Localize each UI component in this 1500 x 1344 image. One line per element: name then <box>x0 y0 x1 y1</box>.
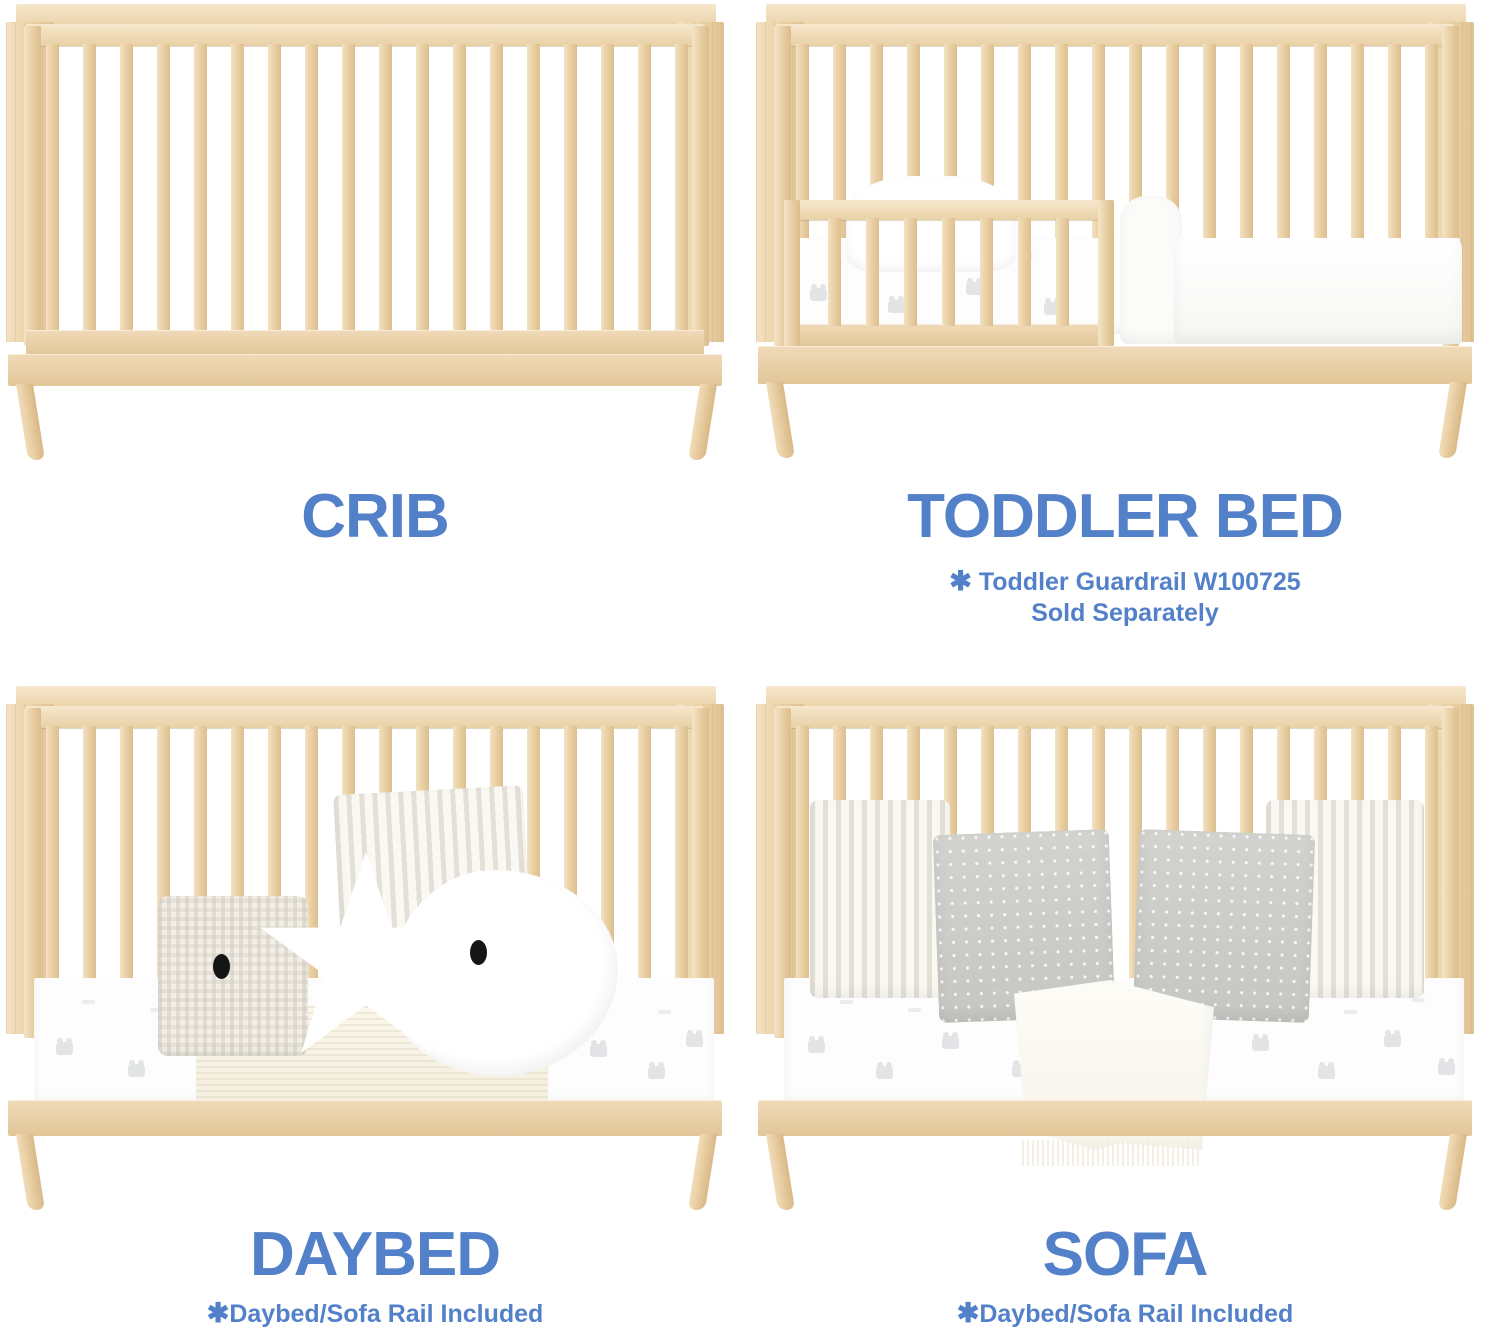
toddler-back-top-rail <box>776 24 1454 46</box>
daybed-leg-right <box>688 1134 717 1210</box>
conversion-stages-grid: CRIB <box>0 0 1500 1344</box>
caption-crib: CRIB <box>0 484 750 550</box>
sofa-back-top-rail <box>776 706 1454 728</box>
panel-title: DAYBED <box>0 1222 750 1288</box>
toddler-base-rail <box>758 346 1472 384</box>
crib-slat-group <box>46 44 694 332</box>
panel-toddler-bed: TODDLER BED ✱ Toddler Guardrail W100725 … <box>750 0 1500 672</box>
caption-daybed: DAYBED ✱Daybed/Sofa Rail Included <box>0 1222 750 1330</box>
crib-post-right <box>692 26 709 346</box>
crib-leg-left <box>16 384 45 460</box>
toddler-leg-right <box>1438 382 1467 458</box>
crib-base-rail <box>8 354 722 386</box>
sofa-leg-right <box>1438 1134 1467 1210</box>
daybed-animal-eye-left <box>213 954 230 979</box>
subtitle-text: Daybed/Sofa Rail Included <box>229 1300 543 1328</box>
subtitle-text: Daybed/Sofa Rail Included <box>979 1300 1293 1328</box>
sofa-base-rail <box>758 1100 1472 1136</box>
sofa-throw-fringe <box>1022 1140 1202 1166</box>
panel-title: CRIB <box>0 484 750 550</box>
crib-illustration <box>0 0 750 470</box>
daybed-illustration <box>0 682 750 1152</box>
daybed-waffle-pillow <box>158 896 308 1056</box>
toddler-duvet <box>1174 238 1462 344</box>
daybed-leg-left <box>16 1134 45 1210</box>
panel-crib: CRIB <box>0 0 750 672</box>
crib-post-left <box>24 26 41 346</box>
panel-title: SOFA <box>750 1222 1500 1288</box>
caption-sofa: SOFA ✱Daybed/Sofa Rail Included <box>750 1222 1500 1330</box>
crib-front-top-rail <box>26 24 704 46</box>
toddler-guardrail <box>784 200 1114 348</box>
panel-title: TODDLER BED <box>750 484 1500 550</box>
crib-leg-right <box>688 384 717 460</box>
toddler-bed-illustration <box>750 0 1500 470</box>
sofa-leg-left <box>766 1134 795 1210</box>
caption-toddler-bed: TODDLER BED ✱ Toddler Guardrail W100725 … <box>750 484 1500 629</box>
daybed-base-rail <box>8 1100 722 1136</box>
panel-subtitle-line2: Sold Separately <box>750 598 1500 629</box>
asterisk-icon: ✱ <box>949 566 972 596</box>
daybed-back-top-rail <box>26 706 704 728</box>
panel-subtitle-line1: ✱ Toddler Guardrail W100725 <box>750 566 1500 598</box>
sofa-illustration <box>750 682 1500 1152</box>
toddler-leg-left <box>766 382 795 458</box>
subtitle-text: Toddler Guardrail W100725 <box>979 568 1301 596</box>
panel-sofa: SOFA ✱Daybed/Sofa Rail Included <box>750 672 1500 1344</box>
sofa-bolster-left <box>810 800 950 998</box>
asterisk-icon: ✱ <box>957 1298 980 1328</box>
panel-subtitle-line1: ✱Daybed/Sofa Rail Included <box>750 1298 1500 1330</box>
panel-subtitle-line1: ✱Daybed/Sofa Rail Included <box>0 1298 750 1330</box>
daybed-animal-eye-right <box>470 940 487 965</box>
panel-daybed: DAYBED ✱Daybed/Sofa Rail Included <box>0 672 750 1344</box>
crib-lower-front-rail <box>26 330 704 356</box>
toddler-duvet-roll <box>1120 196 1182 344</box>
asterisk-icon: ✱ <box>207 1298 230 1328</box>
